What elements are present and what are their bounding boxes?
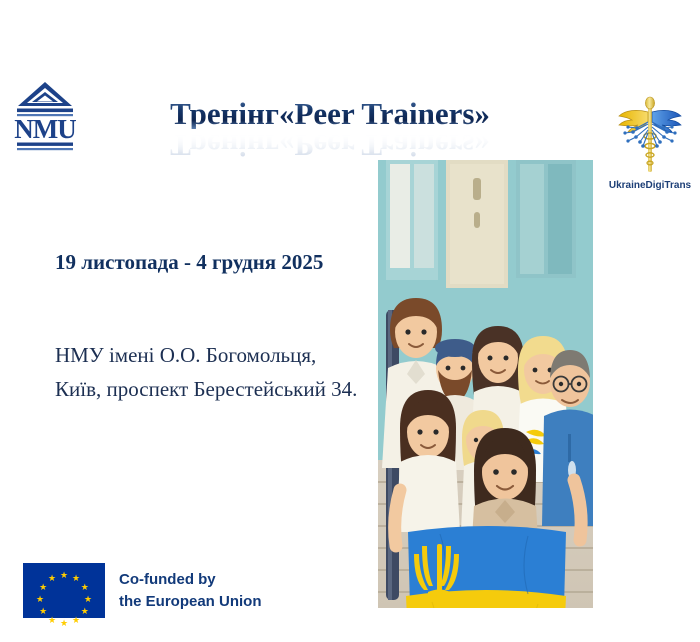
page-title-reflection: Тренінг«Peer Trainers» (120, 130, 540, 161)
eu-star: ★ (39, 583, 48, 592)
venue-line-1: НМУ імені О.О. Богомольця, (55, 338, 357, 372)
nmu-logo-icon: NMU (14, 76, 76, 154)
group-illustration-graphic (378, 160, 593, 608)
page-title: Тренінг«Peer Trainers» (120, 98, 540, 129)
eu-star: ★ (72, 574, 81, 583)
group-photo-illustration (378, 160, 593, 608)
eu-star: ★ (36, 595, 45, 604)
nmu-logo: NMU (14, 76, 76, 154)
eu-star: ★ (60, 571, 69, 580)
eu-star: ★ (80, 607, 89, 616)
eu-star: ★ (84, 595, 93, 604)
eu-star: ★ (72, 616, 81, 625)
eu-flag-icon: ★ ★ ★ ★ ★ ★ ★ ★ ★ ★ ★ ★ (23, 563, 105, 618)
eu-star: ★ (60, 619, 69, 628)
poster-canvas: NMU Тренінг«Peer Trainers» Тренінг«Peer … (0, 0, 700, 642)
eu-funding-badge: ★ ★ ★ ★ ★ ★ ★ ★ ★ ★ ★ ★ Co-funded by the… (23, 563, 262, 618)
event-venue: НМУ імені О.О. Богомольця, Київ, проспек… (55, 338, 357, 406)
eu-star: ★ (80, 583, 89, 592)
partner-logo-label: UkraineDigiTrans (608, 180, 692, 191)
eu-star: ★ (39, 607, 48, 616)
eu-star: ★ (48, 574, 57, 583)
eu-funding-line-2: the European Union (119, 591, 262, 613)
eu-star: ★ (48, 616, 57, 625)
ukrainedigitrans-logo: UkraineDigiTrans (608, 92, 692, 191)
svg-text:NMU: NMU (14, 114, 76, 144)
venue-line-2: Київ, проспект Берестейський 34. (55, 372, 357, 406)
person-figure (396, 390, 460, 532)
eu-funding-line-1: Co-funded by (119, 569, 262, 591)
title-block: Тренінг«Peer Trainers» Тренінг«Peer Trai… (120, 98, 540, 161)
eu-funding-text: Co-funded by the European Union (119, 569, 262, 613)
ukrainian-flag (406, 526, 566, 608)
caduceus-icon (613, 92, 687, 178)
event-dates: 19 листопада - 4 грудня 2025 (55, 250, 323, 275)
